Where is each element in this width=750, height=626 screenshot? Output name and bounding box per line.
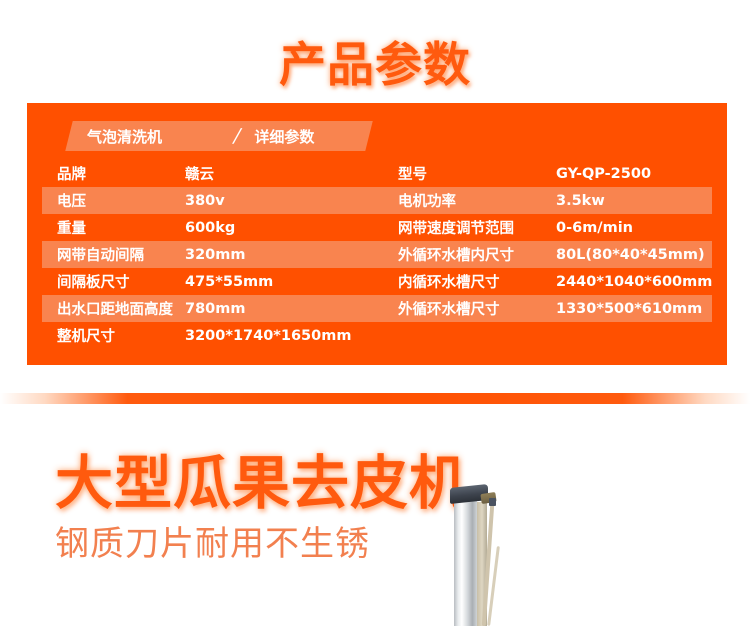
table-row: 电压 380v 电机功率 3.5kw [42, 187, 712, 214]
param-value: 3.5kw [556, 193, 605, 209]
param-label: 网带速度调节范围 [398, 217, 556, 238]
panel-header-tag: 气泡清洗机 / 详细参数 [69, 121, 369, 151]
promo-title: 大型瓜果去皮机 [55, 436, 468, 520]
page-title: 产品参数 [0, 26, 750, 95]
table-cell-right: 电机功率 3.5kw [385, 187, 712, 214]
param-label: 电压 [57, 190, 185, 211]
table-cell-right: 内循环水槽尺寸 2440*1040*600mm [385, 268, 712, 295]
param-value: 3200*1740*1650mm [185, 328, 351, 344]
parameters-panel: 气泡清洗机 / 详细参数 品牌 赣云 型号 GY-QP-2500 电 [27, 103, 727, 365]
separator-slash-icon: / [231, 125, 243, 147]
param-value: 380v [185, 193, 225, 209]
param-value: 600kg [185, 220, 235, 236]
table-cell-right: 外循环水槽尺寸 1330*500*610mm [385, 295, 712, 322]
param-value: 475*55mm [185, 274, 273, 290]
table-cell-left: 品牌 赣云 [42, 160, 385, 187]
param-label: 外循环水槽内尺寸 [398, 244, 556, 265]
param-label: 内循环水槽尺寸 [398, 271, 556, 292]
param-value: 320mm [185, 247, 246, 263]
panel-header-content: 气泡清洗机 / 详细参数 [69, 121, 369, 151]
param-label: 外循环水槽尺寸 [398, 298, 556, 319]
table-row: 间隔板尺寸 475*55mm 内循环水槽尺寸 2440*1040*600mm [42, 268, 712, 295]
table-row: 出水口距地面高度 780mm 外循环水槽尺寸 1330*500*610mm [42, 295, 712, 322]
machine-post [454, 501, 477, 626]
param-label: 出水口距地面高度 [57, 298, 185, 319]
param-value: GY-QP-2500 [556, 166, 651, 182]
param-label: 品牌 [57, 163, 185, 184]
machine-knob-secondary [489, 498, 496, 506]
param-value: 80L(80*40*45mm) [556, 247, 705, 263]
parameters-table: 品牌 赣云 型号 GY-QP-2500 电压 380v 电机功率 3.5kw [42, 160, 712, 349]
param-label: 电机功率 [398, 190, 556, 211]
param-value: 赣云 [185, 163, 214, 184]
param-value: 0-6m/min [556, 220, 633, 236]
param-value: 2440*1040*600mm [556, 274, 712, 290]
param-value: 1330*500*610mm [556, 301, 702, 317]
section-divider [0, 393, 750, 404]
product-parameters-section: 产品参数 气泡清洗机 / 详细参数 品牌 赣云 型号 GY-QP-2500 [0, 0, 750, 390]
table-cell-right: 网带速度调节范围 0-6m/min [385, 214, 712, 241]
table-row: 重量 600kg 网带速度调节范围 0-6m/min [42, 214, 712, 241]
table-cell-full: 整机尺寸 3200*1740*1650mm [42, 322, 712, 349]
machine-name-label: 气泡清洗机 [87, 126, 162, 147]
param-label: 间隔板尺寸 [57, 271, 185, 292]
param-label: 整机尺寸 [57, 325, 185, 346]
param-label: 型号 [398, 163, 556, 184]
param-label: 网带自动间隔 [57, 244, 185, 265]
table-cell-left: 电压 380v [42, 187, 385, 214]
table-cell-right: 型号 GY-QP-2500 [385, 160, 712, 187]
table-cell-right: 外循环水槽内尺寸 80L(80*40*45mm) [385, 241, 712, 268]
promo-section: 大型瓜果去皮机 钢质刀片耐用不生锈 [0, 404, 750, 626]
detail-parameters-label: 详细参数 [254, 126, 314, 147]
table-cell-left: 重量 600kg [42, 214, 385, 241]
param-value: 780mm [185, 301, 246, 317]
table-cell-left: 间隔板尺寸 475*55mm [42, 268, 385, 295]
table-row-full: 整机尺寸 3200*1740*1650mm [42, 322, 712, 349]
promo-subtitle: 钢质刀片耐用不生锈 [55, 516, 370, 565]
table-cell-left: 网带自动间隔 320mm [42, 241, 385, 268]
table-row: 品牌 赣云 型号 GY-QP-2500 [42, 160, 712, 187]
table-cell-left: 出水口距地面高度 780mm [42, 295, 385, 322]
param-label: 重量 [57, 217, 185, 238]
machine-photo [448, 486, 508, 626]
table-row: 网带自动间隔 320mm 外循环水槽内尺寸 80L(80*40*45mm) [42, 241, 712, 268]
